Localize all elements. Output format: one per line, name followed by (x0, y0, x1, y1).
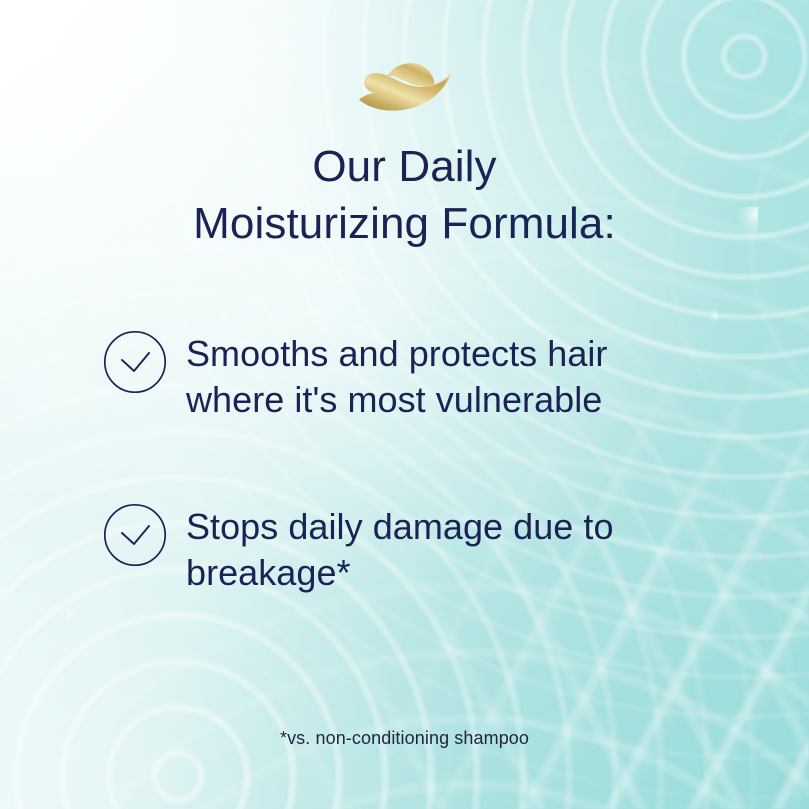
dove-bird-logo-icon (357, 62, 453, 112)
check-circle-icon (103, 330, 167, 394)
list-item-label: Smooths and protects hair where it's mos… (186, 326, 607, 423)
page-title: Our Daily Moisturizing Formula: (0, 138, 809, 252)
list-item: Smooths and protects hair where it's mos… (103, 326, 749, 423)
list-item-label: Stops daily damage due to breakage* (186, 499, 614, 596)
footnote-disclaimer: *vs. non-conditioning shampoo (0, 726, 809, 750)
product-claims-panel: Our Daily Moisturizing Formula: Smooths … (0, 0, 809, 809)
brand-logo (0, 62, 809, 112)
benefits-list: Smooths and protects hair where it's mos… (103, 326, 749, 596)
check-circle-icon (103, 503, 167, 567)
list-item: Stops daily damage due to breakage* (103, 499, 749, 596)
panel-content: Our Daily Moisturizing Formula: Smooths … (0, 0, 809, 809)
